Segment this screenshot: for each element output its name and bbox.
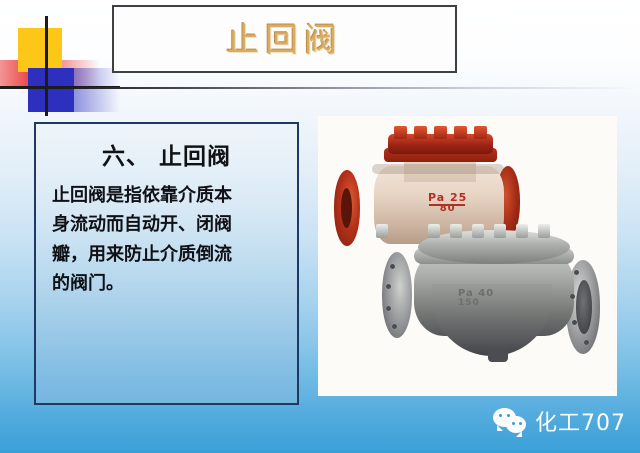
slide-title-box: 止回阀: [112, 5, 457, 73]
body-shading: [372, 164, 504, 174]
decorative-corner-graphic: [0, 16, 120, 116]
section-heading: 六、 止回阀: [48, 144, 285, 169]
bonnet-bolt: [434, 126, 447, 139]
bonnet-bolt: [394, 126, 407, 139]
wechat-dot: [499, 414, 502, 417]
bonnet-bolt: [474, 126, 487, 139]
content-text-box: 六、 止回阀 止回阀是指依靠介质本 身流动而自动开、闭阀 瓣，用来防止介质倒流 …: [34, 122, 299, 405]
bonnet-bolt: [376, 224, 388, 238]
wechat-dot: [519, 422, 522, 425]
body-line: 的阀门。: [52, 269, 285, 298]
flange-bolt-hole: [572, 320, 577, 325]
check-valve-photo: Pa 25 80: [318, 116, 617, 396]
bonnet-bolt: [538, 224, 550, 238]
left-flange-bore: [341, 188, 352, 228]
flange-bolt-hole: [390, 264, 395, 269]
wechat-icon: [493, 408, 527, 434]
valve-marking-lower: Pa 40 150: [458, 288, 494, 309]
marking-underline: [429, 204, 465, 206]
right-flange-bore: [576, 280, 592, 334]
bonnet-bolt: [516, 224, 528, 238]
title-divider-rule: [64, 87, 636, 89]
body-line: 身流动而自动开、闭阀: [52, 210, 285, 239]
bonnet-bolt: [414, 126, 427, 139]
watermark: 化工707: [493, 405, 626, 437]
page-title: 止回阀: [226, 23, 343, 56]
body-line: 瓣，用来防止介质倒流: [52, 240, 285, 269]
slide-canvas: 止回阀 六、 止回阀 止回阀是指依靠介质本 身流动而自动开、闭阀 瓣，用来防止介…: [0, 0, 640, 453]
vertical-cross-line: [45, 16, 48, 116]
body-line: 止回阀是指依靠介质本: [52, 181, 285, 210]
yellow-square: [18, 28, 62, 72]
body-paragraph: 止回阀是指依靠介质本 身流动而自动开、闭阀 瓣，用来防止介质倒流 的阀门。: [48, 181, 285, 298]
valve-drain-plug: [488, 350, 508, 362]
wechat-dot: [512, 422, 515, 425]
flange-bolt-hole: [570, 294, 575, 299]
bonnet-bolt: [454, 126, 467, 139]
flange-bolt-hole: [574, 270, 579, 275]
bonnet-bolt: [472, 224, 484, 238]
flange-bolt-hole: [386, 306, 391, 311]
flange-bolt-hole: [386, 284, 391, 289]
watermark-label: 化工707: [535, 405, 626, 437]
photo-stage: Pa 25 80: [318, 116, 617, 396]
blue-square: [28, 68, 74, 112]
wechat-bubble-small: [506, 416, 526, 433]
flange-bolt-hole: [392, 324, 397, 329]
steel-check-valve-illustration: Pa 40 150: [376, 208, 614, 384]
bonnet-bolt: [494, 224, 506, 238]
wechat-dot: [507, 414, 510, 417]
left-flange: [382, 252, 412, 338]
marking-size: 150: [458, 299, 494, 309]
bonnet-bolt: [428, 224, 440, 238]
flange-bolt-hole: [584, 340, 589, 345]
bonnet-bolt: [450, 224, 462, 238]
